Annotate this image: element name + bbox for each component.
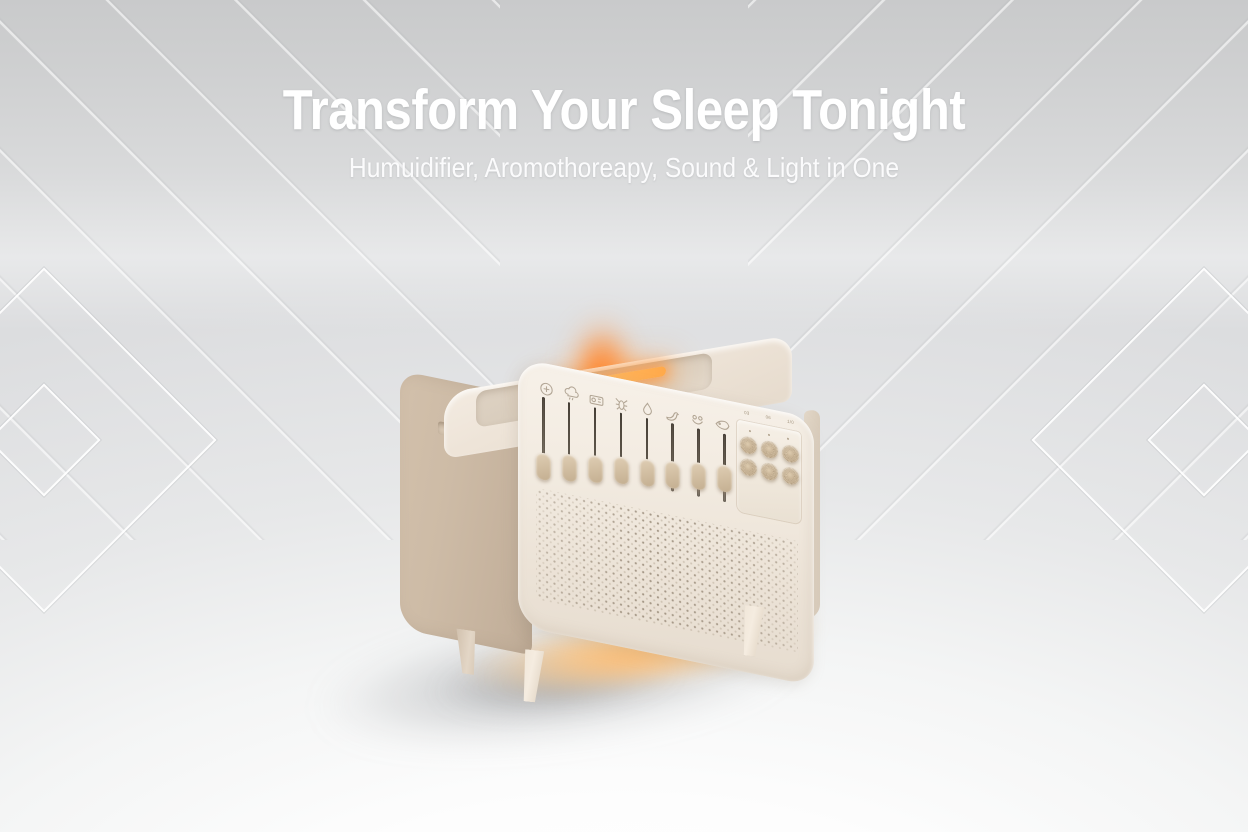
slider-fader[interactable] bbox=[665, 422, 680, 517]
slider-fader[interactable] bbox=[717, 432, 732, 527]
slider-cap[interactable] bbox=[588, 454, 603, 484]
knob-indicator-dot bbox=[768, 434, 770, 436]
humidifier-device: 03 06 1/0 bbox=[398, 358, 850, 698]
knob-top-center[interactable] bbox=[761, 439, 778, 459]
page-subtitle: Humuidifier, Aromothoreapy, Sound & Ligh… bbox=[75, 153, 1173, 184]
knob-top-left[interactable] bbox=[740, 435, 757, 455]
slider-cap[interactable] bbox=[717, 463, 732, 493]
slider-fader[interactable] bbox=[640, 417, 655, 512]
knob-label: 03 bbox=[744, 410, 749, 416]
knob-bottom-right[interactable] bbox=[782, 466, 799, 486]
slider-cap[interactable] bbox=[691, 461, 706, 491]
knob-bottom-left[interactable] bbox=[740, 457, 757, 477]
device-front-face: 03 06 1/0 bbox=[518, 358, 814, 686]
knob-indicator-dot bbox=[749, 430, 751, 432]
device-leg-front-left bbox=[515, 649, 548, 704]
slider-fader[interactable] bbox=[614, 411, 629, 506]
slider-cap[interactable] bbox=[665, 460, 680, 490]
knob-label: 06 bbox=[766, 414, 771, 420]
product-hero-scene: Transform Your Sleep Tonight Humuidifier… bbox=[0, 0, 1248, 832]
slider-cap[interactable] bbox=[614, 455, 629, 485]
slider-cap[interactable] bbox=[562, 453, 577, 483]
knob-top-right[interactable] bbox=[782, 444, 799, 464]
slider-fader[interactable] bbox=[691, 427, 706, 522]
slider-fader[interactable] bbox=[562, 401, 577, 496]
slider-cap[interactable] bbox=[640, 458, 655, 488]
slider-fader[interactable] bbox=[536, 396, 551, 491]
knob-label: 1/0 bbox=[787, 419, 794, 425]
knob-bottom-center[interactable] bbox=[761, 461, 778, 481]
hero-headings: Transform Your Sleep Tonight Humuidifier… bbox=[0, 82, 1248, 184]
slider-fader[interactable] bbox=[588, 406, 603, 501]
page-title: Transform Your Sleep Tonight bbox=[87, 82, 1160, 139]
slider-cap[interactable] bbox=[536, 452, 551, 482]
knob-grid[interactable] bbox=[740, 435, 798, 486]
knob-indicator-dot bbox=[787, 438, 789, 440]
knob-panel: 03 06 1/0 bbox=[736, 418, 802, 525]
